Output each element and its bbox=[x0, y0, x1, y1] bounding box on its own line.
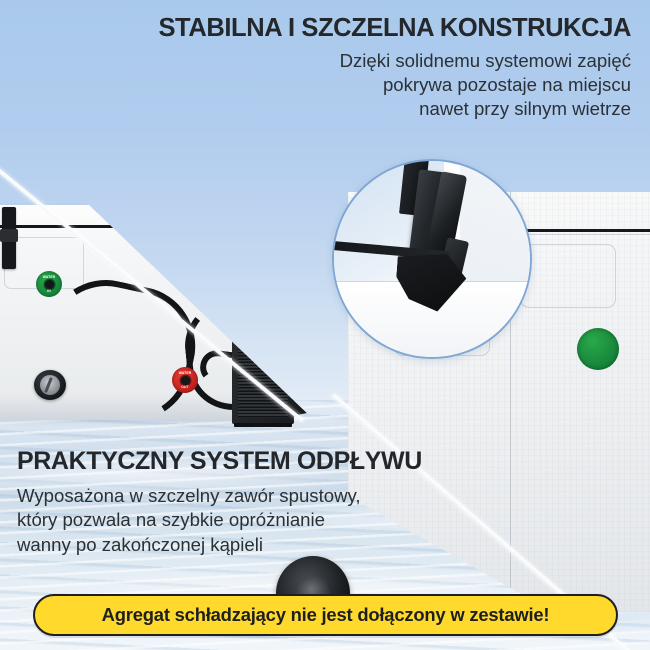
water-port-right bbox=[577, 328, 619, 370]
chiller-display-icon bbox=[244, 303, 276, 319]
bottom-text-block: PRAKTYCZNY SYSTEM ODPŁYWU Wyposażona w s… bbox=[17, 448, 467, 558]
disclaimer-banner-text: Agregat schładzający nie jest dołączony … bbox=[102, 604, 550, 626]
top-heading: STABILNA I SZCZELNA KONSTRUKCJA bbox=[111, 14, 631, 42]
water-inlet-label-bottom: IN bbox=[36, 289, 62, 293]
water-outlet-label-top: WATER bbox=[172, 371, 198, 375]
water-outlet-port: WATER OUT bbox=[172, 367, 198, 393]
bottom-body-line-3: wanny po zakończonej kąpieli bbox=[17, 533, 467, 558]
chiller-small-vent-icon bbox=[268, 325, 288, 339]
water-inlet-label-top: WATER bbox=[36, 275, 62, 279]
chiller-unit bbox=[232, 284, 320, 424]
strap-buckle-right bbox=[205, 210, 219, 268]
top-body-line-1: Dzięki solidnemu systemowi zapięć bbox=[111, 49, 631, 73]
port-fitting-icon bbox=[181, 376, 190, 385]
drain-valve-icon bbox=[34, 370, 66, 400]
top-body-line-3: nawet przy silnym wietrze bbox=[111, 97, 631, 121]
water-outlet-label-bottom: OUT bbox=[172, 385, 198, 389]
bottom-body-line-1: Wyposażona w szczelny zawór spustowy, bbox=[17, 484, 467, 509]
strap-rail bbox=[0, 225, 242, 228]
strap-buckle-left bbox=[2, 207, 16, 269]
disclaimer-banner: Agregat schładzający nie jest dołączony … bbox=[33, 594, 618, 636]
tub-panel-right bbox=[182, 237, 254, 289]
bottom-body-line-2: który pozwala na szybkie opróżnianie bbox=[17, 508, 467, 533]
promo-banner-image: WATER IN WATER OUT bbox=[0, 0, 650, 650]
port-fitting-icon bbox=[45, 280, 54, 289]
top-text-block: STABILNA I SZCZELNA KONSTRUKCJA Dzięki s… bbox=[111, 14, 631, 122]
tub-panel-b bbox=[520, 244, 616, 308]
chiller-side-panel bbox=[292, 279, 320, 416]
bottom-heading: PRAKTYCZNY SYSTEM ODPŁYWU bbox=[17, 448, 467, 476]
chiller-base bbox=[234, 423, 292, 427]
buckle-closeup-inset bbox=[332, 159, 532, 359]
water-inlet-port: WATER IN bbox=[36, 271, 62, 297]
top-body-line-2: pokrywa pozostaje na miejscu bbox=[111, 73, 631, 97]
